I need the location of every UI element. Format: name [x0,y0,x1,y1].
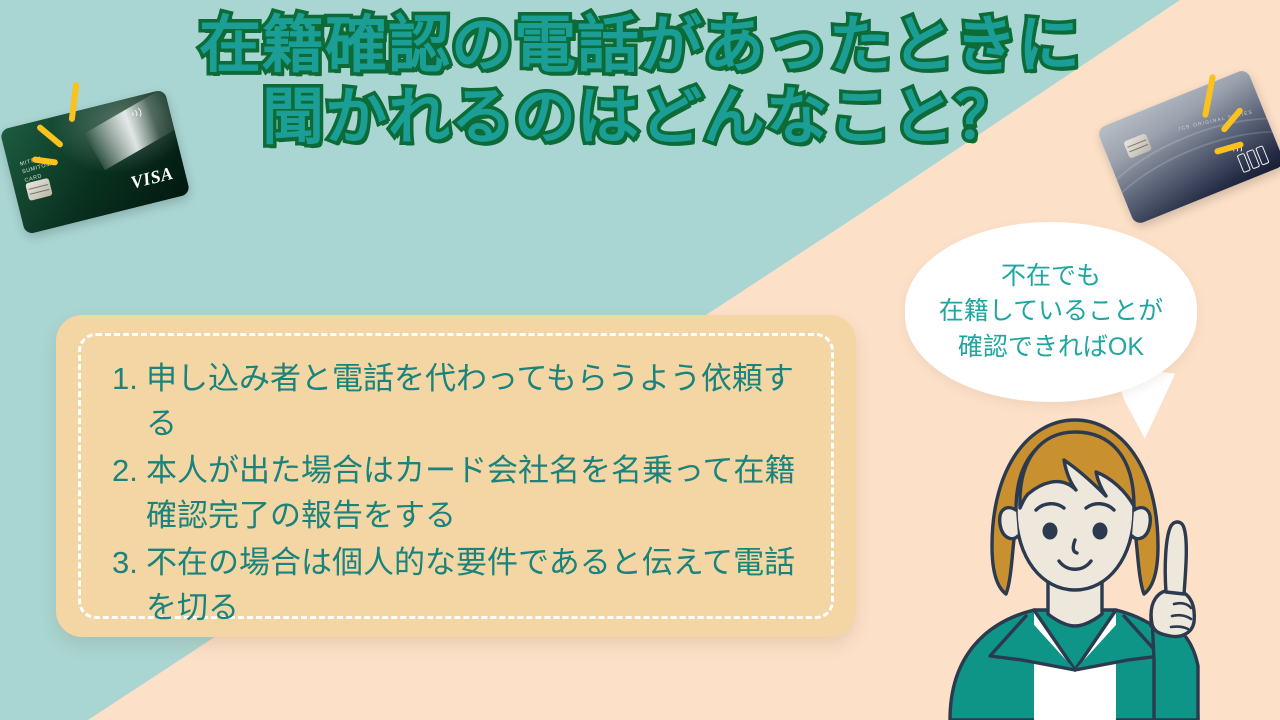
speech-line-2: 在籍していることが [939,294,1163,330]
list-item: 2.本人が出た場合はカード会社名を名乗って在籍確認完了の報告をする [112,449,822,539]
list-item-text: 申し込み者と電話を代わってもらうよう依頼する [146,361,794,441]
index-finger [1165,522,1186,594]
list-item-text: 本人が出た場合はカード会社名を名乗って在籍確認完了の報告をする [146,453,795,533]
speech-bubble-text: 不在でも 在籍していることが 確認できればOK [939,259,1163,366]
list-item: 1.申し込み者と電話を代わってもらうよう依頼する [112,357,822,447]
poster-canvas: MITSUI SUMITOMO CARD VISA JCB ORIGINAL S… [0,0,1280,720]
visa-logo: VISA [129,163,176,194]
card-sheen [84,89,187,170]
visa-credit-card: MITSUI SUMITOMO CARD VISA [0,89,191,235]
eye-left [1043,523,1058,540]
speech-bubble: 不在でも 在籍していることが 確認できればOK [905,222,1197,402]
list-item-number: 3. [112,541,142,586]
list-item: 3.不在の場合は個人的な要件であると伝えて電話を切る [112,541,822,631]
speech-line-3: 確認できればOK [939,330,1163,366]
list-item-number: 1. [112,357,142,402]
steps-list: 1.申し込み者と電話を代わってもらうよう依頼する 2.本人が出た場合はカード会社… [112,357,822,633]
steps-panel: 1.申し込み者と電話を代わってもらうよう依頼する 2.本人が出た場合はカード会社… [56,315,856,637]
list-item-text: 不在の場合は個人的な要件であると伝えて電話を切る [146,545,795,625]
speech-line-1: 不在でも [939,259,1163,295]
woman-illustration [930,398,1220,720]
list-item-number: 2. [112,449,142,494]
eye-right [1093,523,1108,540]
